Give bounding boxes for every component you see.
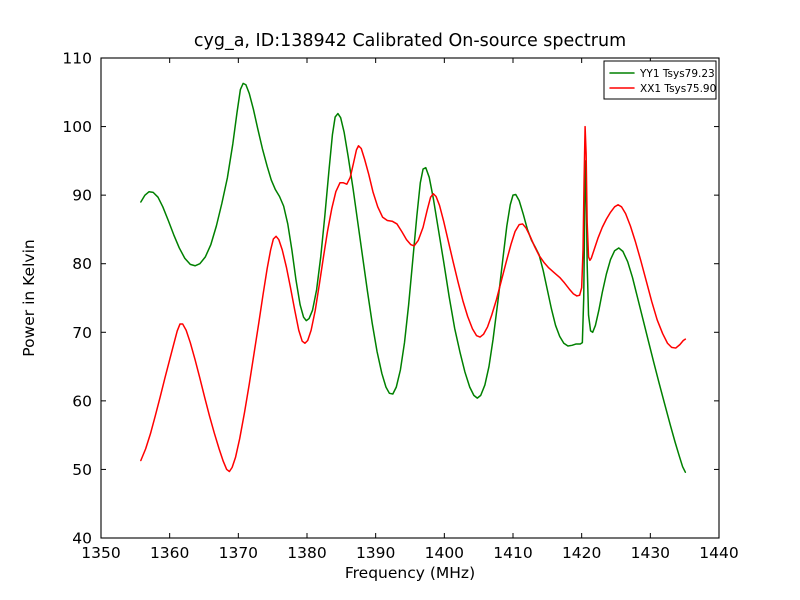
y-tick-label: 40 bbox=[72, 530, 92, 548]
x-tick-label: 1410 bbox=[493, 544, 532, 562]
y-tick-label: 90 bbox=[72, 187, 92, 205]
y-tick-label: 70 bbox=[72, 324, 92, 342]
x-tick-label: 1380 bbox=[287, 544, 326, 562]
y-axis-label: Power in Kelvin bbox=[20, 239, 38, 356]
y-tick-label: 80 bbox=[72, 255, 92, 273]
x-axis-label: Frequency (MHz) bbox=[345, 564, 475, 582]
spectrum-figure: cyg_a, ID:138942 Calibrated On-source sp… bbox=[0, 0, 800, 600]
x-tick-label: 1360 bbox=[150, 544, 189, 562]
legend-label-xx1: XX1 Tsys75.90 bbox=[640, 83, 716, 95]
x-tick-label: 1370 bbox=[219, 544, 258, 562]
page-title: cyg_a, ID:138942 Calibrated On-source sp… bbox=[194, 31, 626, 51]
x-tick-label: 1420 bbox=[562, 544, 601, 562]
x-tick-label: 1430 bbox=[631, 544, 670, 562]
y-tick-label: 110 bbox=[62, 50, 92, 68]
x-tick-label: 1390 bbox=[356, 544, 395, 562]
legend-label-yy1: YY1 Tsys79.23 bbox=[639, 68, 715, 80]
x-tick-label: 1400 bbox=[425, 544, 464, 562]
y-tick-label: 50 bbox=[72, 461, 92, 479]
legend[interactable]: YY1 Tsys79.23 XX1 Tsys75.90 bbox=[604, 61, 716, 99]
x-tick-label: 1440 bbox=[699, 544, 738, 562]
y-tick-label: 100 bbox=[62, 118, 92, 136]
y-tick-label: 60 bbox=[72, 392, 92, 410]
